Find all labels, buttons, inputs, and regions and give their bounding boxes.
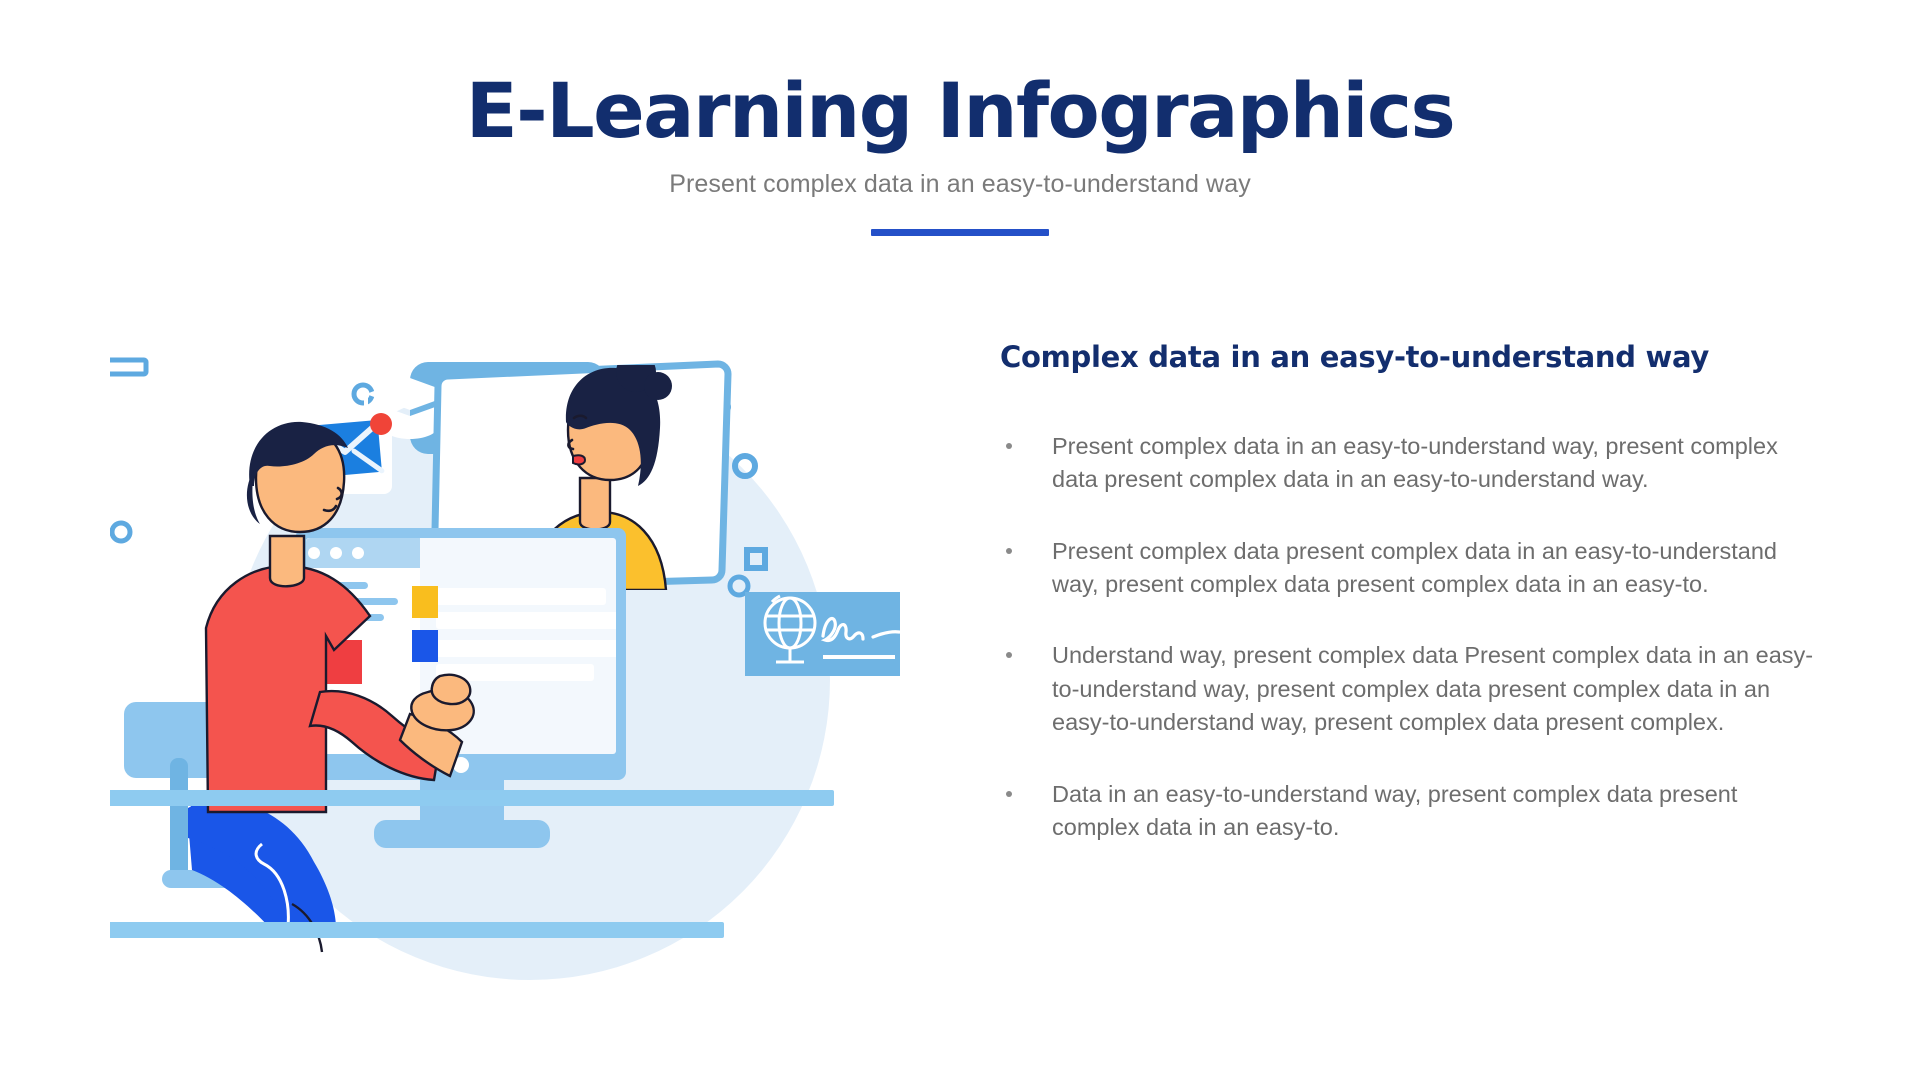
- list-item: Data in an easy-to-understand way, prese…: [1000, 778, 1820, 845]
- woman-neck: [580, 478, 610, 530]
- content-text-pane: Complex data in an easy-to-understand wa…: [1000, 340, 1820, 844]
- desk-bar: [110, 790, 834, 806]
- bullet-dot-icon: [1006, 652, 1012, 658]
- title-accent-rule: [871, 229, 1049, 236]
- bullet-dot-icon: [1006, 791, 1012, 797]
- floor-bar: [110, 922, 724, 938]
- slide-body: Complex data in an easy-to-understand wa…: [0, 320, 1920, 1040]
- page-subtitle: Present complex data in an easy-to-under…: [0, 170, 1920, 199]
- list-item: Present complex data present complex dat…: [1000, 535, 1820, 602]
- slide-canvas: E-Learning Infographics Present complex …: [0, 0, 1920, 1080]
- man-neck: [270, 536, 304, 586]
- list-item: Understand way, present complex data Pre…: [1000, 639, 1820, 739]
- screen-blue-tile: [412, 630, 438, 662]
- screen-window-dots: [308, 547, 364, 559]
- notification-dot: [370, 413, 392, 435]
- slide-header: E-Learning Infographics Present complex …: [0, 70, 1920, 236]
- elearning-illustration: [110, 310, 970, 1030]
- list-item: Present complex data in an easy-to-under…: [1000, 430, 1820, 497]
- woman-mouth: [573, 455, 585, 464]
- monitor-base: [374, 820, 550, 848]
- list-item-text: Understand way, present complex data Pre…: [1052, 642, 1813, 735]
- list-item-text: Present complex data in an easy-to-under…: [1052, 433, 1778, 492]
- section-heading: Complex data in an easy-to-understand wa…: [1000, 340, 1820, 374]
- bullet-dot-icon: [1006, 548, 1012, 554]
- page-title: E-Learning Infographics: [0, 70, 1920, 152]
- screen-yellow-tile: [412, 586, 438, 618]
- globe-certificate-card: [745, 592, 900, 676]
- list-item-text: Present complex data present complex dat…: [1052, 538, 1777, 597]
- bullet-list: Present complex data in an easy-to-under…: [1000, 430, 1820, 844]
- list-item-text: Data in an easy-to-understand way, prese…: [1052, 781, 1737, 840]
- bullet-dot-icon: [1006, 443, 1012, 449]
- illustration-svg: [110, 310, 970, 1030]
